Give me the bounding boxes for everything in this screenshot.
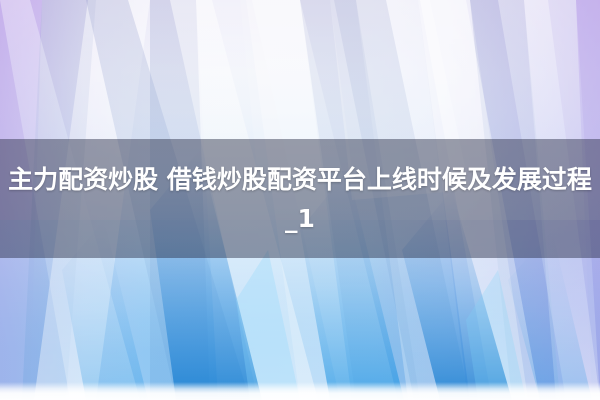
banner-image: 主力配资炒股 借钱炒股配资平台上线时候及发展过程_1	[0, 0, 600, 400]
bottom-fade-strip	[0, 382, 600, 400]
caption-overlay-band: 主力配资炒股 借钱炒股配资平台上线时候及发展过程_1	[0, 139, 600, 258]
banner-title: 主力配资炒股 借钱炒股配资平台上线时候及发展过程_1	[0, 160, 600, 238]
